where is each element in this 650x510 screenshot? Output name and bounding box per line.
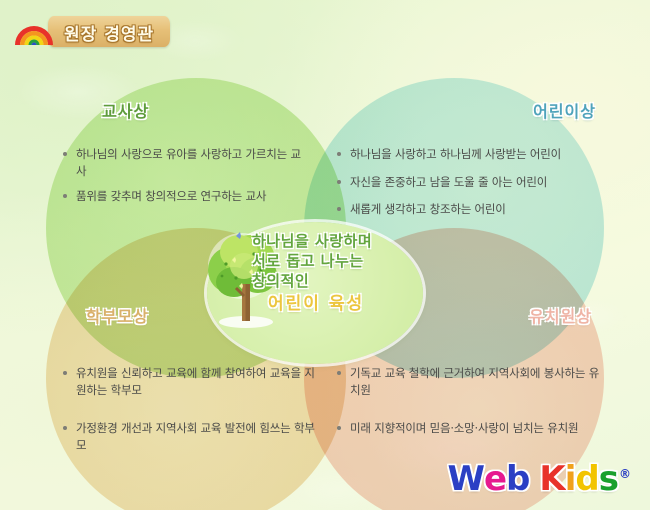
quadrant-child-bullets: 하나님을 사랑하고 하나님께 사랑받는 어린이 자신을 존중하고 남을 도울 줄…	[336, 146, 606, 218]
quadrant-teacher-title: 교사상	[102, 98, 310, 122]
quadrant-child-title: 어린이상	[336, 98, 596, 122]
list-item: 유치원을 신뢰하고 교육에 함께 참여하여 교육을 지원하는 학부모	[62, 365, 315, 398]
webkids-logo[interactable]: WebKids®	[447, 462, 630, 496]
list-item: 자신을 존중하고 남을 도울 줄 아는 어린이	[336, 174, 606, 191]
center-statement: 하나님을 사랑하며 서로 돕고 나누는 창의적인 어린이 육성	[252, 232, 422, 317]
list-item: 새롭게 생각하고 창조하는 어린이	[336, 201, 606, 218]
list-item: 하나님의 사랑으로 유아를 사랑하고 가르치는 교사	[62, 146, 310, 179]
list-item: 가정환경 개선과 지역사회 교육 발전에 힘쓰는 학부모	[62, 420, 315, 453]
diagram-canvas: 원장 경영관 교사상 하나님의 사랑으로 유아를 사랑하고 가르치는 교사 품위…	[0, 0, 650, 510]
list-item: 기독교 교육 철학에 근거하여 지역사회에 봉사하는 유치원	[336, 365, 606, 398]
list-item: 하나님을 사랑하고 하나님께 사랑받는 어린이	[336, 146, 606, 163]
header-logo[interactable]: 원장 경영관	[12, 14, 172, 50]
brand-letter: s	[599, 462, 618, 496]
quadrant-teacher-bullets: 하나님의 사랑으로 유아를 사랑하고 가르치는 교사 품위를 갖추며 창의적으로…	[62, 146, 310, 205]
brand-letter: K	[539, 462, 564, 496]
list-item: 미래 지향적이며 믿음·소망·사랑이 넘치는 유치원	[336, 420, 606, 437]
center-accent-line: 어린이 육성	[268, 293, 422, 317]
quadrant-child: 어린이상 하나님을 사랑하고 하나님께 사랑받는 어린이 자신을 존중하고 남을…	[336, 98, 606, 229]
brand-letter: W	[447, 462, 484, 496]
brand-letter: b	[506, 462, 529, 496]
quadrant-kindergarten-bullets: 기독교 교육 철학에 근거하여 지역사회에 봉사하는 유치원 미래 지향적이며 …	[336, 365, 606, 437]
header-logo-text: 원장 경영관	[64, 20, 154, 45]
quadrant-parent-bullets: 유치원을 신뢰하고 교육에 함께 참여하여 교육을 지원하는 학부모 가정환경 …	[62, 365, 315, 454]
list-item: 품위를 갖추며 창의적으로 연구하는 교사	[62, 188, 310, 205]
registered-mark: ®	[619, 468, 630, 480]
center-line: 창의적인	[252, 272, 422, 292]
brand-letter: e	[484, 462, 506, 496]
center-line: 서로 돕고 나누는	[252, 252, 422, 272]
quadrant-teacher: 교사상 하나님의 사랑으로 유아를 사랑하고 가르치는 교사 품위를 갖추며 창…	[60, 98, 310, 214]
brand-letter: i	[565, 462, 576, 496]
rainbow-icon	[12, 19, 56, 45]
center-line: 하나님을 사랑하며	[252, 232, 422, 252]
brand-letter: d	[575, 462, 598, 496]
